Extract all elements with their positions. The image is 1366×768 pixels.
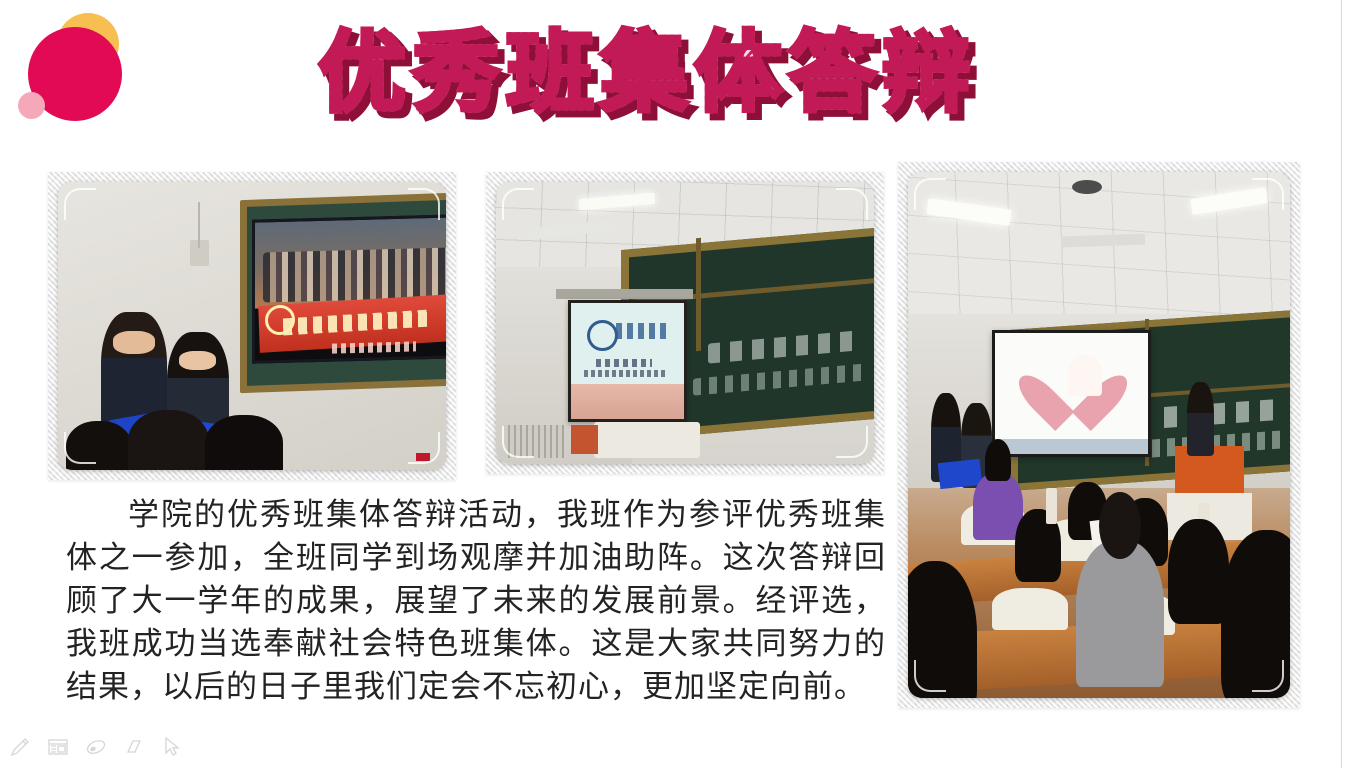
photo-frame-audience[interactable] xyxy=(898,162,1300,708)
slide-edge-rule xyxy=(1341,0,1342,768)
highlighter-icon[interactable] xyxy=(84,735,108,759)
photo-frame-classroom[interactable] xyxy=(486,172,884,474)
photo-presenters xyxy=(58,182,446,470)
photo-classroom xyxy=(496,182,874,464)
pen-icon[interactable] xyxy=(8,735,32,759)
presentation-slide: 优秀班集体答辩 优秀班集体答辩 xyxy=(0,0,1366,768)
cursor-icon[interactable] xyxy=(160,735,184,759)
page-title-text: 优秀班集体答辩 xyxy=(318,14,976,132)
slideshow-icon[interactable] xyxy=(46,735,70,759)
eraser-icon[interactable] xyxy=(122,735,146,759)
decor-circle-pink xyxy=(18,92,45,119)
body-paragraph: 学院的优秀班集体答辩活动，我班作为参评优秀班集体之一参加，全班同学到场观摩并加油… xyxy=(66,494,886,709)
photo-audience xyxy=(908,172,1290,698)
page-title: 优秀班集体答辩 优秀班集体答辩 xyxy=(318,14,1078,136)
annotation-toolbar xyxy=(8,732,184,762)
photo-frame-presenters[interactable] xyxy=(48,172,456,480)
